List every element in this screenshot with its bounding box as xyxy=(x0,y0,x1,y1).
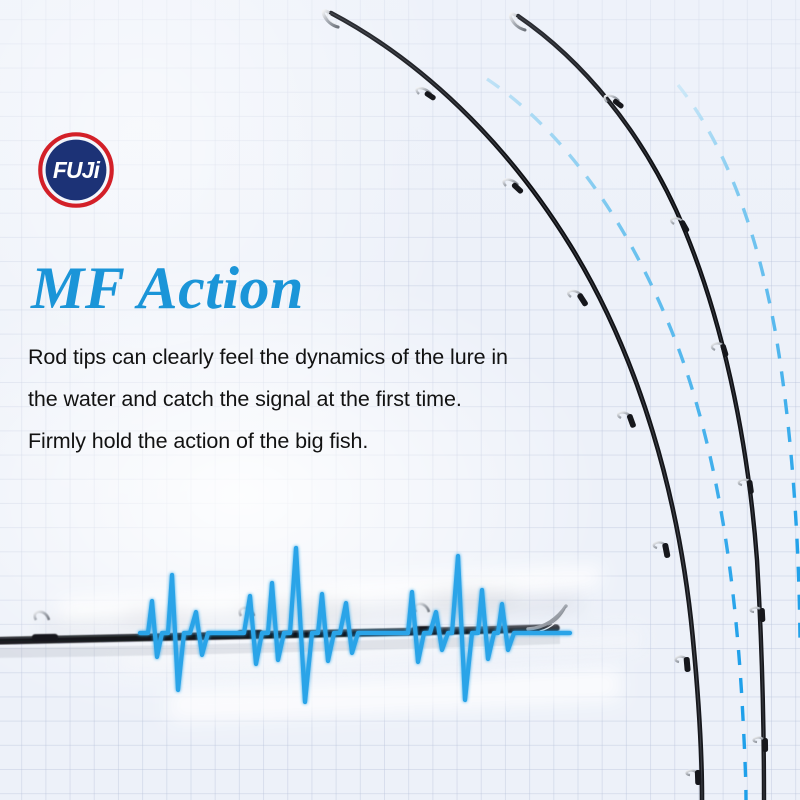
product-feature-banner: FUJi MF Action Rod tips can clearly feel… xyxy=(0,0,800,800)
fuji-logo-icon: FUJi xyxy=(38,132,114,208)
description-line-1: Rod tips can clearly feel the dynamics o… xyxy=(28,336,628,378)
description-line-2: the water and catch the signal at the fi… xyxy=(28,378,628,420)
logo-wordmark: FUJi xyxy=(53,157,101,183)
fuji-logo: FUJi xyxy=(38,132,114,208)
description-line-3: Firmly hold the action of the big fish. xyxy=(28,420,628,462)
description-text: Rod tips can clearly feel the dynamics o… xyxy=(28,336,628,462)
page-title: MF Action xyxy=(31,258,304,318)
